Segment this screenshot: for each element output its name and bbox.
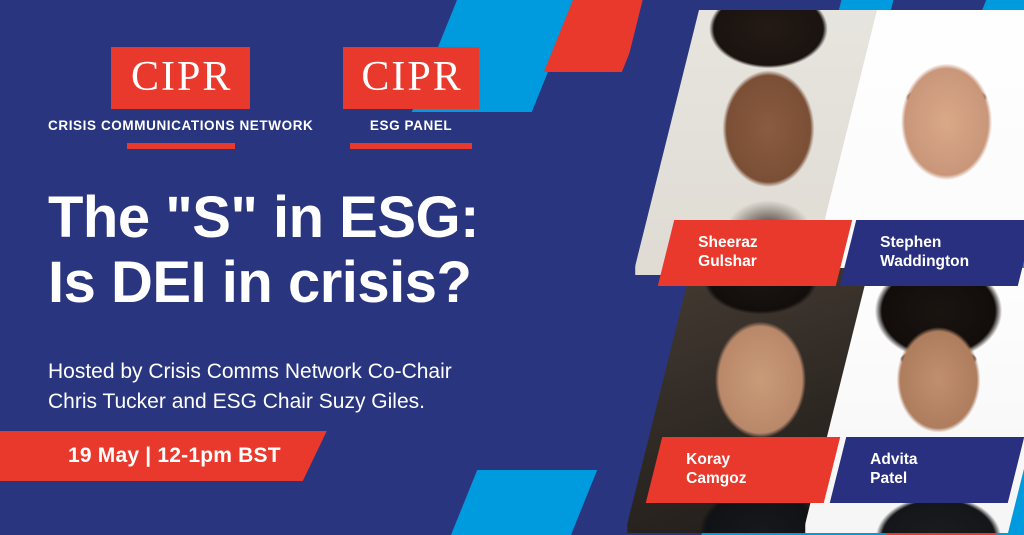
speaker-nameplate: Stephen Waddington (840, 220, 1024, 286)
page-title: The "S" in ESG: Is DEI in crisis? (48, 186, 479, 316)
logo-subtitle: CRISIS COMMUNICATIONS NETWORK (48, 118, 313, 135)
speaker-nameplate: Koray Camgoz (646, 437, 840, 503)
speaker-name: Koray Camgoz (654, 450, 746, 489)
page-subtitle: Hosted by Crisis Comms Network Co-Chair … (48, 357, 452, 417)
date-time-banner: 19 May | 12-1pm BST (0, 431, 327, 481)
logo-subtitle: ESG PANEL (370, 118, 452, 135)
decorative-stripe-top-red (544, 0, 654, 72)
cipr-wordmark: CIPR (343, 47, 478, 109)
logo-cipr-crisis-comms-network: CIPR CRISIS COMMUNICATIONS NETWORK (48, 47, 313, 149)
speaker-nameplate: Sheeraz Gulshar (658, 220, 852, 286)
date-time-text: 19 May | 12-1pm BST (0, 444, 281, 468)
logo-underline-rule (127, 143, 235, 149)
logo-group: CIPR CRISIS COMMUNICATIONS NETWORK CIPR … (48, 47, 479, 149)
speaker-name: Sheeraz Gulshar (666, 233, 757, 272)
logo-cipr-esg-panel: CIPR ESG PANEL (343, 47, 478, 149)
decorative-stripe-bottom-blue (433, 470, 597, 535)
speaker-name: Stephen Waddington (848, 233, 969, 272)
logo-underline-rule (350, 143, 472, 149)
speaker-collage: Sheeraz Gulshar Stephen Waddington Koray… (648, 0, 1024, 535)
promo-graphic: CIPR CRISIS COMMUNICATIONS NETWORK CIPR … (0, 0, 1024, 535)
cipr-wordmark: CIPR (111, 47, 250, 109)
speaker-name: Advita Patel (838, 450, 917, 489)
speaker-nameplate: Advita Patel (830, 437, 1024, 503)
